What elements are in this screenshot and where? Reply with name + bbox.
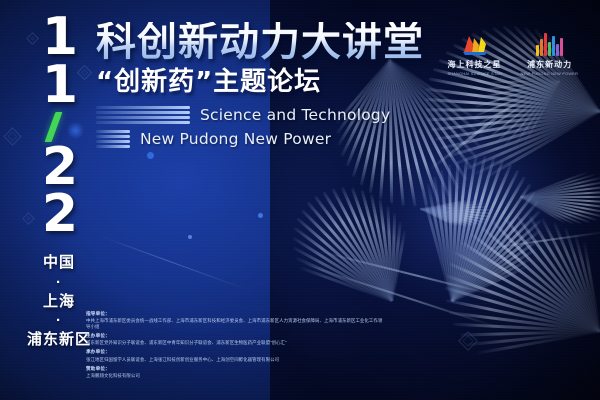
english-title-line-2: New Pudong New Power	[140, 130, 331, 148]
logo-name-cn: 海上科技之星	[448, 59, 502, 70]
credit-value: 上海鹏翔文化科技有限公司	[86, 373, 386, 379]
credit-value: 中共上海市浦东新区委员会统一战线工作部、上海市浦东新区科技和经济委员会、上海市浦…	[86, 318, 386, 329]
credit-label: 赞助单位：	[86, 366, 386, 372]
date-digit-4: 2	[26, 191, 92, 239]
credit-label: 主办单位：	[86, 333, 386, 339]
light-streak	[99, 235, 250, 291]
location-separator: ·	[26, 311, 92, 330]
green-slash-icon	[26, 110, 92, 144]
credit-value: 浦东新区党外知识分子联谊会、浦东新区中青年知识分子联谊会、浦东新区生物医药产业联…	[86, 340, 386, 346]
credit-label: 承办单位：	[86, 349, 386, 355]
gradient-bars-icon	[96, 106, 190, 124]
location-line: 浦东新区	[26, 330, 92, 349]
credit-value: 张江地区归国留学人员联谊会、上海张江科技创新创业服务中心、上海创空间孵化器管理有…	[86, 357, 386, 363]
dot-decoration	[188, 235, 192, 239]
logo-name-cn: 浦东新动力	[527, 59, 572, 70]
gradient-bars-icon	[96, 130, 130, 148]
english-title-row-1: Science and Technology	[96, 106, 424, 124]
date-digit-2: 1	[26, 62, 92, 110]
credit-label: 指导单位：	[86, 311, 386, 317]
page-subtitle: “创新药”主题论坛	[96, 69, 424, 95]
shanghai-science-tech-logo: 海上科技之星 SHANGHAI SCIENCE STAR	[446, 32, 504, 76]
flame-sail-icon	[460, 32, 490, 56]
logo-group: 海上科技之星 SHANGHAI SCIENCE STAR 浦东新动力 NEW P…	[446, 32, 580, 76]
new-pudong-new-power-logo: 浦东新动力 NEW PUDONG NEW POWER	[519, 32, 580, 76]
credits-block: 指导单位： 中共上海市浦东新区委员会统一战线工作部、上海市浦东新区科技和经济委员…	[86, 311, 386, 383]
dot-decoration	[258, 213, 263, 218]
logo-name-en: SHANGHAI SCIENCE STAR	[447, 71, 502, 76]
page-title: 科创新动力大讲堂	[96, 22, 424, 62]
colored-bars-icon	[536, 32, 563, 56]
headline-block: 科创新动力大讲堂 “创新药”主题论坛 Science and Technolog…	[96, 22, 424, 148]
event-date-block: 1 1 2 2 中国 · 上海 · 浦东新区	[26, 14, 92, 349]
event-poster: 1 1 2 2 中国 · 上海 · 浦东新区 科创新动力大讲堂 “创新药”主题论…	[0, 0, 600, 400]
diamond-decoration	[3, 127, 21, 145]
dot-decoration	[147, 152, 154, 159]
location-separator: ·	[26, 273, 92, 292]
english-title-line-1: Science and Technology	[200, 106, 390, 124]
location-line: 上海	[26, 292, 92, 311]
location-line: 中国	[26, 253, 92, 272]
english-title-row-2: New Pudong New Power	[96, 130, 424, 148]
event-location: 中国 · 上海 · 浦东新区	[26, 253, 92, 349]
flame-sail-svg	[460, 32, 490, 56]
logo-name-en: NEW PUDONG NEW POWER	[521, 71, 579, 76]
